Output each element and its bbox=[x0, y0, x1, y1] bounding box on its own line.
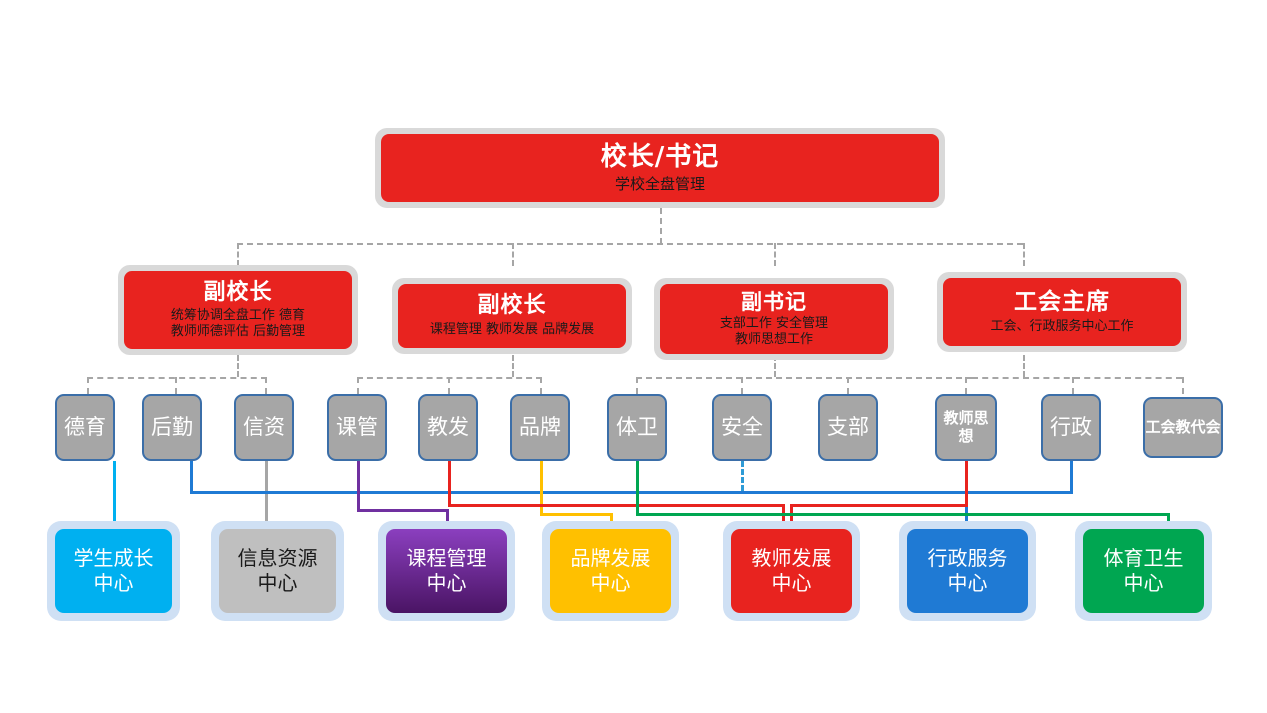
dashed-link-vp2-c2 bbox=[448, 377, 450, 394]
node-union-chair[interactable]: 工会主席 工会、行政服务中心工作 bbox=[937, 272, 1187, 352]
dept-anquan-label: 安全 bbox=[721, 416, 763, 439]
center-brand-development-label: 品牌发展中心 bbox=[570, 546, 652, 596]
center-student-growth[interactable]: 学生成长中心 bbox=[47, 521, 180, 621]
dept-xingzheng[interactable]: 行政 bbox=[1041, 394, 1101, 461]
dept-jiaofa[interactable]: 教发 bbox=[418, 394, 478, 461]
dashed-link-to-vp2 bbox=[512, 243, 514, 266]
dashed-link-vp2-c3 bbox=[540, 377, 542, 394]
dept-xinzi-label: 信资 bbox=[243, 416, 285, 439]
link-blue-main-bus bbox=[190, 491, 1070, 494]
link-sixiang-drop bbox=[965, 461, 968, 504]
center-sports-health-label: 体育卫生中心 bbox=[1103, 546, 1185, 596]
center-admin-service-plate: 行政服务中心 bbox=[907, 529, 1028, 613]
center-student-growth-plate: 学生成长中心 bbox=[55, 529, 172, 613]
dept-deyu[interactable]: 德育 bbox=[55, 394, 115, 461]
center-admin-service-label: 行政服务中心 bbox=[927, 546, 1009, 596]
dashed-link-vp1-stem bbox=[237, 355, 239, 377]
dept-xinzi[interactable]: 信资 bbox=[234, 394, 294, 461]
vice-secretary-title: 副书记 bbox=[741, 291, 807, 315]
link-pinpai-run bbox=[540, 513, 613, 516]
center-info-resource-label: 信息资源中心 bbox=[237, 546, 319, 596]
dept-teacher-ideology-label: 教师思想 bbox=[937, 410, 995, 445]
vice-principal-1-duty-2: 教师师德评估 后勤管理 bbox=[171, 324, 305, 340]
vice-secretary-duty-1: 支部工作 安全管理 bbox=[720, 316, 828, 332]
dashed-link-vs-c4 bbox=[965, 377, 967, 394]
node-principal[interactable]: 校长/书记 学校全盘管理 bbox=[375, 128, 945, 208]
center-sports-health[interactable]: 体育卫生中心 bbox=[1075, 521, 1212, 621]
dept-keguan[interactable]: 课管 bbox=[327, 394, 387, 461]
dept-union-congress-label: 工会教代会 bbox=[1145, 419, 1220, 436]
dashed-link-vp1-c2 bbox=[175, 377, 177, 394]
union-chair-title: 工会主席 bbox=[1014, 290, 1110, 316]
dashed-link-root-stem bbox=[660, 208, 662, 244]
link-jiaofa-run bbox=[448, 504, 785, 507]
center-info-resource[interactable]: 信息资源中心 bbox=[211, 521, 344, 621]
link-houqin-drop bbox=[190, 461, 193, 491]
dept-houqin[interactable]: 后勤 bbox=[142, 394, 202, 461]
center-brand-development-plate: 品牌发展中心 bbox=[550, 529, 671, 613]
dept-zhibu-label: 支部 bbox=[827, 416, 869, 439]
center-teacher-development[interactable]: 教师发展中心 bbox=[723, 521, 860, 621]
principal-title: 校长/书记 bbox=[601, 143, 720, 172]
link-xingzheng-drop bbox=[1070, 461, 1073, 494]
center-admin-service[interactable]: 行政服务中心 bbox=[899, 521, 1036, 621]
link-keguan-drop bbox=[357, 461, 360, 509]
dept-union-congress[interactable]: 工会教代会 bbox=[1143, 397, 1223, 458]
dashed-link-union-c2 bbox=[1182, 377, 1184, 394]
dept-pinpai[interactable]: 品牌 bbox=[510, 394, 570, 461]
center-curriculum-plate: 课程管理中心 bbox=[386, 529, 507, 613]
dashed-link-to-vp1 bbox=[237, 243, 239, 266]
link-tiwei-run bbox=[636, 513, 1170, 516]
dept-jiaofa-label: 教发 bbox=[427, 416, 469, 439]
dept-xingzheng-label: 行政 bbox=[1050, 416, 1092, 439]
link-tiwei-drop bbox=[636, 461, 639, 513]
union-chair-duty-1: 工会、行政服务中心工作 bbox=[990, 319, 1133, 335]
dept-keguan-label: 课管 bbox=[336, 416, 378, 439]
link-jiaofa-drop bbox=[448, 461, 451, 504]
dashed-link-vs-c2 bbox=[741, 377, 743, 394]
dept-pinpai-label: 品牌 bbox=[519, 416, 561, 439]
vice-principal-1-duty-1: 统筹协调全盘工作 德育 bbox=[171, 308, 305, 324]
dept-tiwei[interactable]: 体卫 bbox=[607, 394, 667, 461]
vice-secretary-duty-2: 教师思想工作 bbox=[735, 332, 813, 348]
dashed-link-vs-c1 bbox=[636, 377, 638, 394]
center-student-growth-label: 学生成长中心 bbox=[73, 546, 155, 596]
link-keguan-run bbox=[357, 509, 449, 512]
dashed-link-vp2-stem bbox=[512, 355, 514, 377]
link-sixiang-run bbox=[790, 504, 968, 507]
dashed-link-vs-c3 bbox=[847, 377, 849, 394]
dept-teacher-ideology[interactable]: 教师思想 bbox=[935, 394, 997, 461]
dashed-link-vp1-bus bbox=[87, 377, 267, 379]
center-teacher-development-plate: 教师发展中心 bbox=[731, 529, 852, 613]
dept-deyu-label: 德育 bbox=[64, 416, 106, 439]
dashed-link-to-union bbox=[1023, 243, 1025, 266]
dept-houqin-label: 后勤 bbox=[151, 416, 193, 439]
dashed-link-vs-bus bbox=[636, 377, 972, 379]
dashed-link-vp2-c1 bbox=[357, 377, 359, 394]
center-curriculum[interactable]: 课程管理中心 bbox=[378, 521, 515, 621]
dashed-link-vp1-c1 bbox=[87, 377, 89, 394]
vice-principal-2-duty-1: 课程管理 教师发展 品牌发展 bbox=[430, 322, 594, 338]
dept-anquan[interactable]: 安全 bbox=[712, 394, 772, 461]
dept-zhibu[interactable]: 支部 bbox=[818, 394, 878, 461]
node-vice-secretary[interactable]: 副书记 支部工作 安全管理 教师思想工作 bbox=[654, 278, 894, 360]
dashed-link-union-bus bbox=[972, 377, 1182, 379]
dept-tiwei-label: 体卫 bbox=[616, 416, 658, 439]
dashed-link-root-bus bbox=[237, 243, 1023, 245]
link-anquan-dashed-stub bbox=[741, 461, 744, 491]
dashed-link-union-stem bbox=[1023, 355, 1025, 377]
center-teacher-development-label: 教师发展中心 bbox=[751, 546, 833, 596]
center-curriculum-label: 课程管理中心 bbox=[406, 546, 488, 596]
node-vice-principal-2[interactable]: 副校长 课程管理 教师发展 品牌发展 bbox=[392, 278, 632, 354]
center-info-resource-plate: 信息资源中心 bbox=[219, 529, 336, 613]
org-chart-canvas: 校长/书记 学校全盘管理 副校长 统筹协调全盘工作 德育 教师师德评估 后勤管理… bbox=[0, 0, 1267, 713]
dashed-link-to-vs bbox=[774, 243, 776, 266]
vice-principal-2-title: 副校长 bbox=[477, 294, 546, 319]
node-vice-principal-1[interactable]: 副校长 统筹协调全盘工作 德育 教师师德评估 后勤管理 bbox=[118, 265, 358, 355]
dashed-link-vp1-c3 bbox=[265, 377, 267, 394]
vice-principal-1-title: 副校长 bbox=[203, 281, 272, 306]
link-blue-bus-tail bbox=[965, 491, 1072, 494]
center-sports-health-plate: 体育卫生中心 bbox=[1083, 529, 1204, 613]
dashed-link-union-c1 bbox=[1072, 377, 1074, 394]
principal-subtitle: 学校全盘管理 bbox=[615, 175, 705, 193]
center-brand-development[interactable]: 品牌发展中心 bbox=[542, 521, 679, 621]
